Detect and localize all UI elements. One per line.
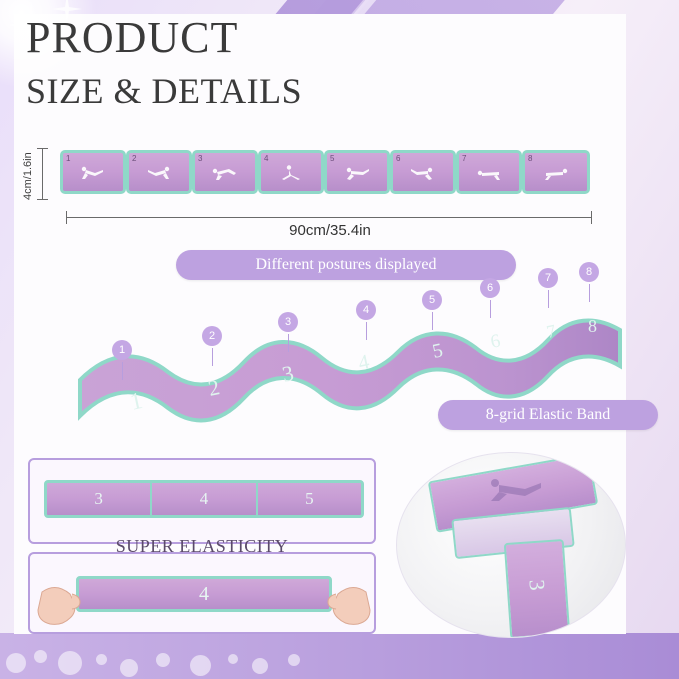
flat-band-cell: 5: [256, 483, 361, 515]
callout-number: 1: [112, 340, 132, 360]
svg-text:8: 8: [588, 316, 597, 336]
leader-line-3: [288, 334, 289, 352]
segment-number: 6: [396, 154, 400, 163]
band-segment: 6: [390, 150, 456, 194]
leader-line-2: [212, 348, 213, 366]
yoga-pose-icon: [143, 164, 175, 182]
flat-band-cell: 4: [150, 483, 255, 515]
yoga-pose-icon: [473, 164, 505, 182]
band-segment: 1: [60, 150, 126, 194]
folded-band-photo: 3: [396, 452, 626, 638]
yoga-pose-icon: [209, 164, 241, 182]
leader-line-5: [432, 312, 433, 330]
callout-number: 6: [480, 278, 500, 298]
callout-number: 2: [202, 326, 222, 346]
leader-line-4: [366, 322, 367, 340]
top-band-diagram: 1 2 3 4 5: [60, 150, 590, 200]
height-dimension-label: 4cm/1.6in: [22, 146, 38, 206]
yoga-pose-icon: [540, 164, 572, 182]
yoga-pose-icon-print: [481, 475, 551, 503]
flat-band-cell: 3: [47, 483, 150, 515]
segment-number: 5: [330, 154, 334, 163]
wavy-band-svg: 1 2 3 4 5 6 7 8: [40, 300, 660, 440]
band-segment: 2: [126, 150, 192, 194]
callout-number: 5: [422, 290, 442, 310]
band-segment: 4: [258, 150, 324, 194]
segment-number: 4: [264, 154, 268, 163]
leader-line-6: [490, 300, 491, 318]
callout-7: 7: [538, 268, 558, 288]
wavy-band-illustration: 1 2 3 4 5 6 7 8: [40, 300, 660, 440]
callout-number: 7: [538, 268, 558, 288]
flat-band: 3 4 5: [44, 480, 364, 518]
product-infographic: PRODUCT SIZE & DETAILS 4cm/1.6in 1 2 3: [0, 0, 679, 679]
right-hand-icon: [326, 578, 376, 634]
stretched-band-panel: 4: [28, 552, 376, 634]
callout-1: 1: [112, 340, 132, 360]
folded-band-number: 3: [523, 579, 550, 592]
callout-6: 6: [480, 278, 500, 298]
band-segment: 3: [192, 150, 258, 194]
yoga-pose-icon: [77, 164, 109, 182]
stretched-band-number: 4: [79, 579, 329, 609]
callout-number: 4: [356, 300, 376, 320]
yoga-pose-icon: [275, 164, 307, 182]
segment-number: 2: [132, 154, 136, 163]
flat-band-panel: 3 4 5: [28, 458, 376, 544]
callout-2: 2: [202, 326, 222, 346]
page-subtitle: SIZE & DETAILS: [26, 70, 302, 112]
leader-line-8: [589, 284, 590, 302]
stretched-band: 4: [76, 576, 332, 612]
svg-text:6: 6: [489, 330, 503, 353]
callout-number: 3: [278, 312, 298, 332]
band-segment: 7: [456, 150, 522, 194]
leader-line-7: [548, 290, 549, 308]
callout-4: 4: [356, 300, 376, 320]
page-title: PRODUCT: [26, 12, 238, 63]
callout-3: 3: [278, 312, 298, 332]
length-dimension-label: 90cm/35.4in: [0, 222, 660, 239]
segment-number: 8: [528, 154, 532, 163]
band-segment: 8: [522, 150, 590, 194]
segment-number: 3: [198, 154, 202, 163]
yoga-pose-icon: [341, 164, 373, 182]
postures-pill-label: Different postures displayed: [176, 250, 516, 280]
leader-line-1: [122, 362, 123, 380]
callout-number: 8: [579, 262, 599, 282]
callout-8: 8: [579, 262, 599, 282]
folded-band-vertical: 3: [504, 539, 571, 638]
yoga-pose-icon: [407, 164, 439, 182]
left-hand-icon: [32, 578, 82, 634]
segment-number: 7: [462, 154, 466, 163]
segment-number: 1: [66, 154, 70, 163]
band-segment: 5: [324, 150, 390, 194]
callout-5: 5: [422, 290, 442, 310]
